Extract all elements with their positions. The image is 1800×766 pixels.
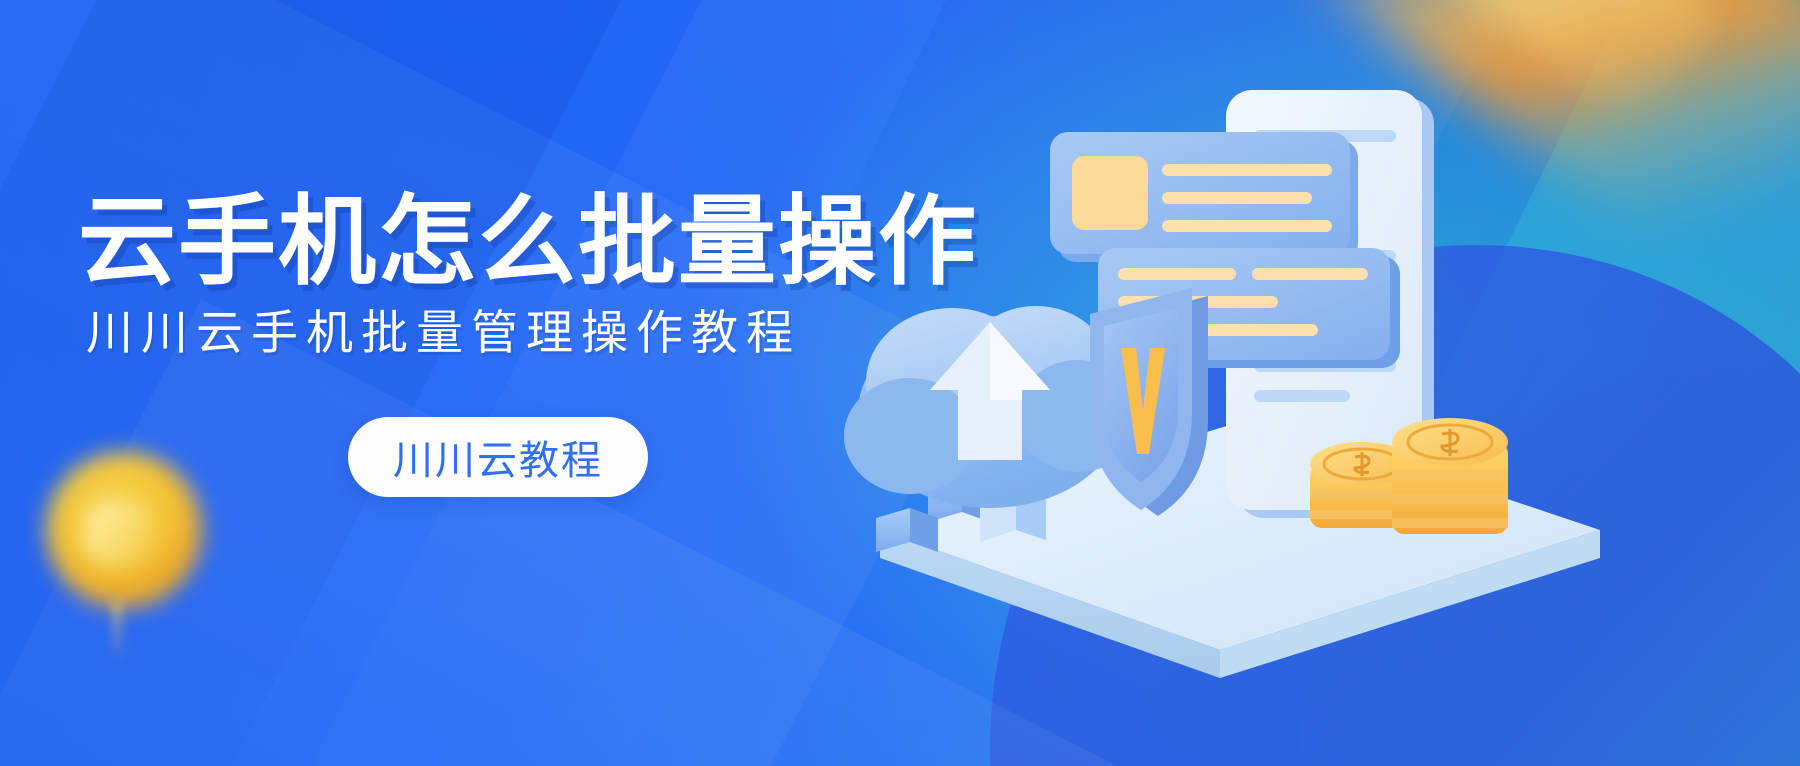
promo-banner: 云手机怎么批量操作 川川云手机批量管理操作教程 川川云教程	[0, 0, 1800, 766]
coin-stack-front	[1392, 418, 1508, 534]
page-subtitle: 川川云手机批量管理操作教程	[86, 305, 801, 361]
tutorial-badge[interactable]: 川川云教程	[348, 417, 648, 497]
tutorial-badge-label: 川川云教程	[393, 428, 603, 486]
message-card-top	[1050, 132, 1358, 262]
illustration-svg	[840, 60, 1620, 680]
cloud-phone-management-illustration	[840, 60, 1620, 680]
text-content-block: 云手机怎么批量操作 川川云手机批量管理操作教程 川川云教程	[0, 0, 960, 766]
